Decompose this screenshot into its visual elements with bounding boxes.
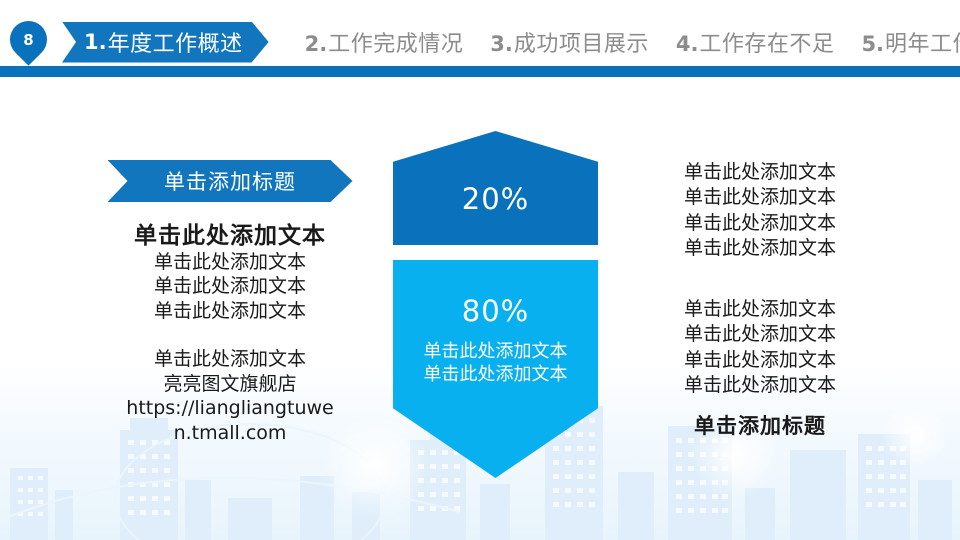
right-text-line: 单击此处添加文本 xyxy=(630,236,890,261)
nav-item-2-index: 2. xyxy=(305,32,328,56)
left-text-block-2: 单击此处添加文本 亮亮图文旗舰店 https://liangliangtuwen… xyxy=(60,347,400,446)
nav-item-1-index: 1. xyxy=(84,30,107,54)
chart-segment-top-percent: 20% xyxy=(462,182,529,216)
nav-underline-rule xyxy=(0,66,960,77)
left-text-line: 单击此处添加文本 xyxy=(60,250,400,274)
left-heading: 单击此处添加文本 xyxy=(60,216,400,250)
nav-item-2-label: 工作完成情况 xyxy=(328,26,463,58)
left-text-block-1: 单击此处添加文本 单击此处添加文本 单击此处添加文本 xyxy=(60,250,400,323)
left-content-column: 单击添加标题 单击此处添加文本 单击此处添加文本 单击此处添加文本 单击此处添加… xyxy=(60,160,400,446)
chart-segment-bottom-line: 单击此处添加文本 xyxy=(424,363,568,386)
left-text-line: 单击此处添加文本 xyxy=(60,274,400,298)
nav-item-4-label: 工作存在不足 xyxy=(699,26,834,58)
right-text-line: 单击此处添加文本 xyxy=(630,348,890,373)
nav-item-5-label: 明年工作计划 xyxy=(885,26,960,58)
right-text-line: 单击此处添加文本 xyxy=(630,160,890,185)
top-navigation-bar: 8 1. 年度工作概述 2. 工作完成情况 3. 成功项目展示 4. 工作存在不… xyxy=(0,0,960,78)
right-heading: 单击添加标题 xyxy=(630,410,890,440)
shop-name: 亮亮图文旗舰店 xyxy=(60,372,400,397)
slide-canvas: 8 1. 年度工作概述 2. 工作完成情况 3. 成功项目展示 4. 工作存在不… xyxy=(0,0,960,540)
nav-item-3-label: 成功项目展示 xyxy=(514,26,649,58)
right-text-line: 单击此处添加文本 xyxy=(630,322,890,347)
right-text-line: 单击此处添加文本 xyxy=(630,185,890,210)
shop-url[interactable]: https://liangliangtuwen.tmall.com xyxy=(124,396,336,445)
nav-item-1-label: 年度工作概述 xyxy=(108,26,243,58)
right-text-block-2: 单击此处添加文本 单击此处添加文本 单击此处添加文本 单击此处添加文本 单击添加… xyxy=(630,297,890,440)
nav-item-5-index: 5. xyxy=(861,32,884,56)
right-text-line: 单击此处添加文本 xyxy=(630,373,890,398)
left-ribbon-title: 单击添加标题 xyxy=(164,166,296,196)
nav-item-list: 1. 年度工作概述 2. 工作完成情况 3. 成功项目展示 4. 工作存在不足 … xyxy=(62,22,960,62)
left-ribbon-banner[interactable]: 单击添加标题 xyxy=(108,160,353,202)
left-text-line: 单击此处添加文本 xyxy=(60,347,400,372)
right-text-line: 单击此处添加文本 xyxy=(630,211,890,236)
nav-item-5[interactable]: 5. 明年工作计划 xyxy=(861,26,960,58)
background-glow-c xyxy=(880,400,950,470)
chart-segment-bottom-percent: 80% xyxy=(462,294,529,328)
nav-item-3[interactable]: 3. 成功项目展示 xyxy=(490,26,649,58)
nav-item-2[interactable]: 2. 工作完成情况 xyxy=(305,26,464,58)
right-text-line: 单击此处添加文本 xyxy=(630,297,890,322)
nav-item-4-index: 4. xyxy=(676,32,699,56)
nav-item-1[interactable]: 1. 年度工作概述 xyxy=(62,22,269,63)
chart-segment-bottom-text: 单击此处添加文本 单击此处添加文本 xyxy=(424,340,568,387)
nav-item-4[interactable]: 4. 工作存在不足 xyxy=(676,26,835,58)
chart-segment-bottom-line: 单击此处添加文本 xyxy=(424,340,568,363)
right-content-column: 单击此处添加文本 单击此处添加文本 单击此处添加文本 单击此处添加文本 单击此处… xyxy=(630,160,890,440)
left-text-line: 单击此处添加文本 xyxy=(60,299,400,323)
chart-segment-top[interactable]: 20% xyxy=(393,131,598,245)
right-text-block-1: 单击此处添加文本 单击此处添加文本 单击此处添加文本 单击此处添加文本 xyxy=(630,160,890,261)
page-number: 8 xyxy=(10,21,47,58)
nav-item-3-index: 3. xyxy=(490,32,513,56)
